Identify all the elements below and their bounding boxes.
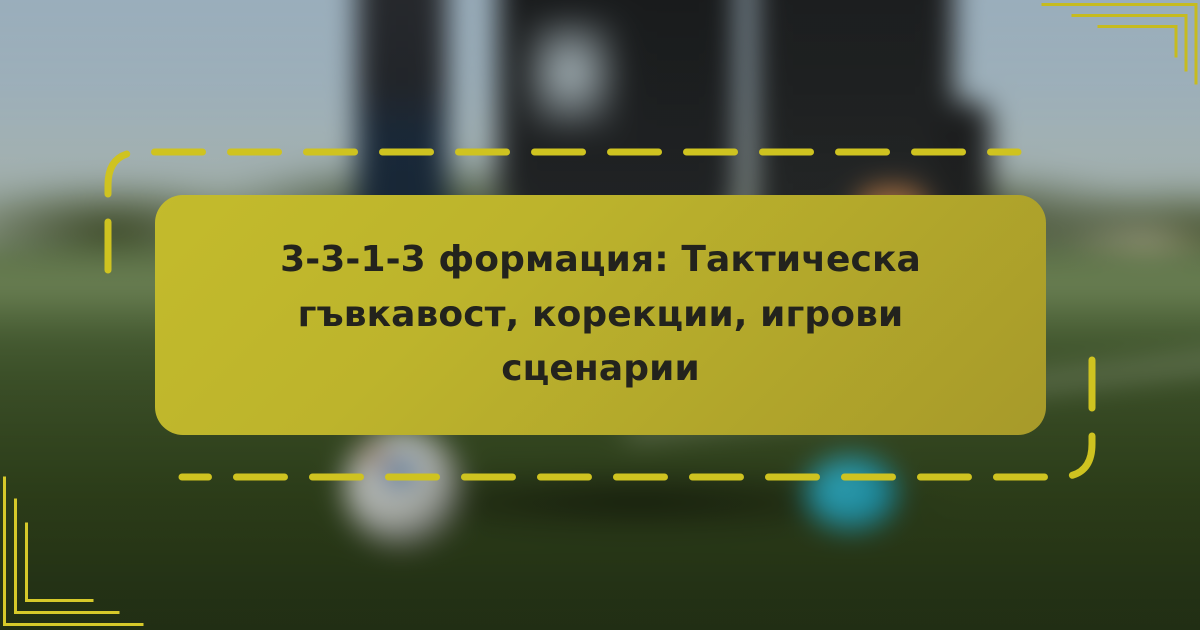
photo-soccer-ball xyxy=(344,429,462,547)
photo-player-jersey xyxy=(523,17,618,131)
page-title: 3-3-1-3 формация: Тактическа гъвкавост, … xyxy=(211,233,990,397)
share-card-canvas: 3-3-1-3 формация: Тактическа гъвкавост, … xyxy=(0,0,1200,630)
photo-cyan-object xyxy=(805,457,897,529)
title-card: 3-3-1-3 формация: Тактическа гъвкавост, … xyxy=(155,195,1046,435)
photo-ball-marking-red xyxy=(363,446,387,466)
photo-ball-marking-blue xyxy=(382,457,416,487)
